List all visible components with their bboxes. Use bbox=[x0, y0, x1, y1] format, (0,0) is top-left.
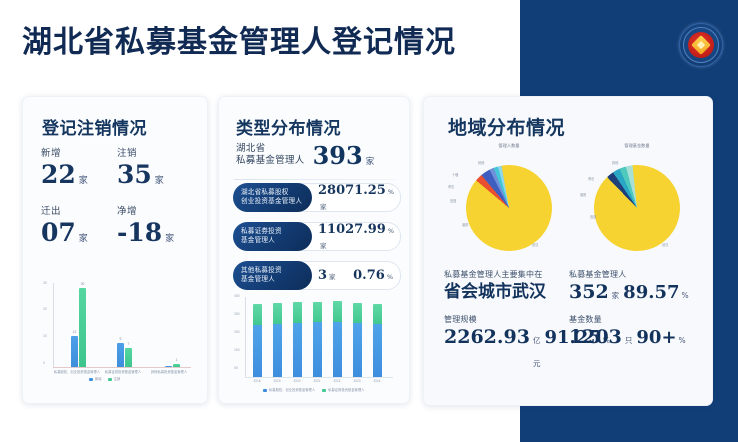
region-stat-row: 私募基金管理人主要集中在 省会城市武汉 私募基金管理人 352 家 89.57 … bbox=[444, 269, 694, 307]
type-total-label-line1: 湖北省 bbox=[236, 143, 305, 155]
legend-label: 注销 bbox=[114, 377, 121, 381]
bar-new: 9 bbox=[117, 343, 124, 367]
chart-x-axis bbox=[245, 377, 393, 378]
region-stat-percent-unit: % bbox=[679, 329, 686, 352]
bar-value-label: 30 bbox=[81, 282, 85, 286]
card-title-type: 类型分布情况 bbox=[236, 114, 341, 139]
chart-y-axis bbox=[53, 283, 54, 367]
pie-title: 管理人数量 bbox=[499, 143, 520, 149]
type-row-name-line1: 私募证券投资 bbox=[241, 228, 312, 237]
stacked-bar bbox=[353, 303, 362, 377]
type-row-name-line2: 基金管理人 bbox=[241, 276, 312, 285]
x-tick-label: 2024 bbox=[373, 379, 380, 383]
percent-unit: % bbox=[388, 188, 394, 196]
stacked-bar bbox=[373, 304, 382, 377]
y-tick-label: 450 bbox=[234, 294, 240, 298]
stat-label: 新增 bbox=[41, 145, 117, 159]
bar-group: 12 30 bbox=[71, 288, 86, 367]
stacked-bar bbox=[333, 301, 342, 377]
region-stat-unit: 亿元 bbox=[533, 329, 541, 375]
region-stat-percent: 89.57 bbox=[623, 281, 679, 304]
bar-new: 12 bbox=[71, 336, 78, 367]
x-tick-label: 私募证券投资基金管理人 bbox=[105, 369, 141, 374]
type-total-value: 393 bbox=[313, 145, 363, 167]
bar-cancelled: 1 bbox=[173, 364, 180, 367]
pie-callout-label: 宜昌 bbox=[590, 215, 596, 219]
legend-item-securities: 私募证券投资基金管理人 bbox=[322, 387, 364, 392]
region-stat-unit: 家 bbox=[612, 284, 620, 307]
count-value: 110 bbox=[318, 222, 345, 237]
y-tick-label: 50 bbox=[234, 366, 238, 370]
pie-callout-label: 十堰 bbox=[452, 173, 458, 177]
chart-type-stacked-bar: 450 350 250 150 50 2018 2019 2020 2021 2… bbox=[233, 295, 397, 395]
stat-value: -18 bbox=[117, 218, 162, 248]
type-row-name-line1: 其他私募投资 bbox=[241, 267, 312, 276]
registration-stat-grid: 新增 22 家 注销 35 家 迁出 bbox=[41, 145, 193, 254]
stat-cancelled: 注销 35 家 bbox=[117, 145, 193, 196]
x-tick-label: 2018 bbox=[253, 379, 260, 383]
chart-x-axis bbox=[53, 367, 191, 368]
type-row-values: 280家 71.25% bbox=[318, 183, 393, 213]
x-tick-label: 2023 bbox=[353, 379, 360, 383]
stat-moved-out: 迁出 07 家 bbox=[41, 203, 117, 254]
percent-value: 27.99 bbox=[345, 222, 386, 237]
y-tick-label: 250 bbox=[234, 330, 240, 334]
pie-callout-label: 其他 bbox=[612, 161, 618, 165]
region-stat-label: 基金数量 bbox=[569, 314, 694, 325]
legend-label: 私募股权、创业投资基金管理人 bbox=[269, 388, 315, 392]
stat-row: 迁出 07 家 净增 -18 家 bbox=[41, 203, 193, 254]
region-stat-value: 352 bbox=[569, 281, 609, 304]
stat-value-wrap: 35 家 bbox=[117, 160, 193, 196]
type-row-values: 3家 0.76% bbox=[318, 268, 393, 283]
stat-value: 35 bbox=[117, 160, 152, 190]
x-tick-label: 2022 bbox=[333, 379, 340, 383]
type-total-label: 湖北省 私募基金管理人 bbox=[236, 143, 305, 167]
legend-item-new: 新增 bbox=[89, 376, 102, 381]
chart-plot-area: 12 30 9 7 1 bbox=[57, 283, 191, 367]
bar-new bbox=[165, 366, 172, 367]
bar-value-label: 9 bbox=[120, 337, 122, 341]
count-unit: 家 bbox=[320, 242, 327, 250]
stat-value: 22 bbox=[41, 160, 76, 190]
type-row-percent: 71.25% bbox=[345, 183, 394, 198]
stacked-bar bbox=[253, 304, 262, 377]
y-tick-label: 150 bbox=[234, 348, 240, 352]
y-tick-label: 350 bbox=[234, 312, 240, 316]
pie-callout-label: 襄阳 bbox=[580, 193, 586, 197]
stacked-bar bbox=[313, 302, 322, 377]
region-stats: 私募基金管理人主要集中在 省会城市武汉 私募基金管理人 352 家 89.57 … bbox=[444, 269, 694, 382]
chart-pie-managers: 管理人数量 其他 十堰 黄石 宜昌 襄阳 武汉 bbox=[448, 143, 570, 263]
card-title-registration: 登记注销情况 bbox=[42, 114, 147, 139]
card-region-distribution: 地域分布情况 管理人数量 其他 十堰 黄石 宜昌 襄阳 武汉 管理基金数量 其他… bbox=[423, 96, 713, 406]
pie-callout-label: 黄石 bbox=[448, 185, 454, 189]
infographic-stage: 湖北省私募基金管理人登记情况 登记注销情况 新增 22 家 注销 35 家 bbox=[0, 0, 738, 442]
bar-group: 1 bbox=[165, 364, 180, 367]
count-unit: 家 bbox=[320, 203, 327, 211]
y-tick-label: 30 bbox=[43, 281, 47, 285]
region-stat-label: 私募基金管理人主要集中在 bbox=[444, 269, 569, 280]
stat-label: 注销 bbox=[117, 145, 193, 159]
stat-row: 新增 22 家 注销 35 家 bbox=[41, 145, 193, 196]
card-title-region: 地域分布情况 bbox=[448, 113, 565, 140]
stat-label: 迁出 bbox=[41, 203, 117, 217]
region-stat-aum: 管理规模 2262.93 亿元 91.25 % bbox=[444, 314, 569, 375]
type-row-count: 110家 bbox=[318, 222, 345, 252]
bar-value-label: 12 bbox=[73, 330, 77, 334]
type-row-values: 110家 27.99% bbox=[318, 222, 393, 252]
stat-value-wrap: 07 家 bbox=[41, 218, 117, 254]
type-total-label-line2: 私募基金管理人 bbox=[236, 155, 305, 167]
type-row-name-line1: 湖北省私募股权 bbox=[241, 189, 312, 198]
stat-value-wrap: 22 家 bbox=[41, 160, 117, 196]
chart-legend: 新增 注销 bbox=[89, 376, 120, 381]
region-stat-percent-unit: % bbox=[682, 284, 689, 307]
pie-title: 管理基金数量 bbox=[624, 143, 649, 149]
type-total-row: 湖北省 私募基金管理人 393 家 bbox=[236, 143, 396, 167]
stat-unit: 家 bbox=[79, 166, 88, 196]
pie-callout-label: 武汉 bbox=[662, 243, 668, 247]
x-tick-label: 2019 bbox=[273, 379, 280, 383]
type-row: 其他私募投资 基金管理人 3家 0.76% bbox=[233, 261, 401, 290]
legend-item-equity: 私募股权、创业投资基金管理人 bbox=[263, 387, 315, 392]
x-tick-label: 2020 bbox=[293, 379, 300, 383]
region-stat-value: 2262.93 bbox=[444, 326, 530, 349]
y-tick-label: 0 bbox=[43, 361, 45, 365]
association-emblem-icon bbox=[679, 23, 723, 67]
y-tick-label: 20 bbox=[43, 307, 47, 311]
type-row: 私募证券投资 基金管理人 110家 27.99% bbox=[233, 222, 401, 251]
stat-value-wrap: -18 家 bbox=[117, 218, 193, 254]
bar-cancelled: 7 bbox=[125, 348, 132, 367]
type-total-unit: 家 bbox=[366, 155, 375, 167]
type-row-count: 3家 bbox=[318, 268, 336, 283]
type-row-percent: 27.99% bbox=[345, 222, 394, 237]
type-row-percent: 0.76% bbox=[353, 268, 393, 283]
chart-legend: 私募股权、创业投资基金管理人 私募证券投资基金管理人 bbox=[263, 387, 364, 392]
bar-cancelled: 30 bbox=[79, 288, 86, 367]
region-stat-concentration: 私募基金管理人主要集中在 省会城市武汉 bbox=[444, 269, 569, 307]
type-row-name-line2: 创业投资基金管理人 bbox=[241, 198, 312, 207]
region-stat-value-wrap: 2262.93 亿元 91.25 % bbox=[444, 326, 569, 375]
percent-value: 71.25 bbox=[345, 183, 386, 198]
stat-value: 07 bbox=[41, 218, 76, 248]
region-stat-fund-count: 基金数量 1203 只 90+ % bbox=[569, 314, 694, 375]
percent-value: 0.76 bbox=[353, 268, 385, 283]
pie-disc bbox=[594, 165, 680, 251]
region-stat-row: 管理规模 2262.93 亿元 91.25 % 基金数量 1203 只 90+ … bbox=[444, 314, 694, 375]
pie-callout-label: 其他 bbox=[478, 161, 484, 165]
region-stat-label: 管理规模 bbox=[444, 314, 569, 325]
stacked-bar bbox=[293, 302, 302, 377]
card-type-distribution: 类型分布情况 湖北省 私募基金管理人 393 家 湖北省私募股权 创业投资基金管… bbox=[218, 96, 410, 404]
type-row-count: 280家 bbox=[318, 183, 345, 213]
pie-callout-label: 襄阳 bbox=[462, 223, 468, 227]
stat-label: 净增 bbox=[117, 203, 193, 217]
region-stat-managers: 私募基金管理人 352 家 89.57 % bbox=[569, 269, 694, 307]
region-stat-value-wrap: 1203 只 90+ % bbox=[569, 326, 694, 352]
count-value: 280 bbox=[318, 183, 345, 198]
y-tick-label: 10 bbox=[43, 334, 47, 338]
type-row-pill: 其他私募投资 基金管理人 bbox=[233, 261, 312, 290]
region-stat-value-wrap: 省会城市武汉 bbox=[444, 281, 569, 304]
percent-unit: % bbox=[388, 227, 394, 235]
type-row-name-line2: 基金管理人 bbox=[241, 237, 312, 246]
divider bbox=[234, 179, 396, 180]
region-stat-unit: 只 bbox=[625, 329, 633, 352]
region-stat-percent: 90+ bbox=[636, 326, 676, 349]
stat-net-change: 净增 -18 家 bbox=[117, 203, 193, 254]
region-stat-value-wrap: 352 家 89.57 % bbox=[569, 281, 694, 307]
x-tick-label: 私募股权、创业投资基金管理人 bbox=[54, 369, 100, 374]
chart-registration-bar: 30 20 10 0 12 30 9 7 bbox=[39, 281, 193, 385]
pie-callout-label: 武汉 bbox=[532, 243, 538, 247]
type-row-pill: 私募证券投资 基金管理人 bbox=[233, 222, 312, 251]
chart-y-axis bbox=[245, 297, 246, 377]
bar-group: 9 7 bbox=[117, 343, 132, 367]
stat-new: 新增 22 家 bbox=[41, 145, 117, 196]
stat-unit: 家 bbox=[155, 166, 164, 196]
legend-item-cancelled: 注销 bbox=[108, 376, 121, 381]
bar-value-label: 7 bbox=[128, 342, 130, 346]
count-value: 3 bbox=[318, 268, 327, 283]
chart-pie-funds: 管理基金数量 其他 黄石 襄阳 宜昌 武汉 bbox=[576, 143, 698, 263]
x-tick-label: 其他私募投资基金管理人 bbox=[151, 369, 187, 374]
type-row: 湖北省私募股权 创业投资基金管理人 280家 71.25% bbox=[233, 183, 401, 212]
type-row-pill: 湖北省私募股权 创业投资基金管理人 bbox=[233, 183, 312, 212]
count-unit: 家 bbox=[329, 273, 336, 281]
region-stat-value: 1203 bbox=[569, 326, 622, 349]
percent-unit: % bbox=[387, 273, 393, 281]
card-registration-cancellation: 登记注销情况 新增 22 家 注销 35 家 bbox=[22, 96, 208, 404]
pie-callout-label: 宜昌 bbox=[450, 199, 456, 203]
legend-label: 私募证券投资基金管理人 bbox=[328, 388, 364, 392]
pie-callout-label: 黄石 bbox=[588, 177, 594, 181]
stat-unit: 家 bbox=[79, 224, 88, 254]
bar-value-label: 1 bbox=[176, 358, 178, 362]
region-stat-value: 省会城市武汉 bbox=[444, 281, 546, 304]
chart-plot-area bbox=[249, 297, 393, 377]
page-title: 湖北省私募基金管理人登记情况 bbox=[22, 23, 456, 63]
stacked-bar bbox=[273, 303, 282, 377]
stat-unit: 家 bbox=[165, 224, 174, 254]
legend-label: 新增 bbox=[95, 377, 102, 381]
region-stat-label: 私募基金管理人 bbox=[569, 269, 694, 280]
pie-disc bbox=[466, 165, 552, 251]
x-tick-label: 2021 bbox=[313, 379, 320, 383]
